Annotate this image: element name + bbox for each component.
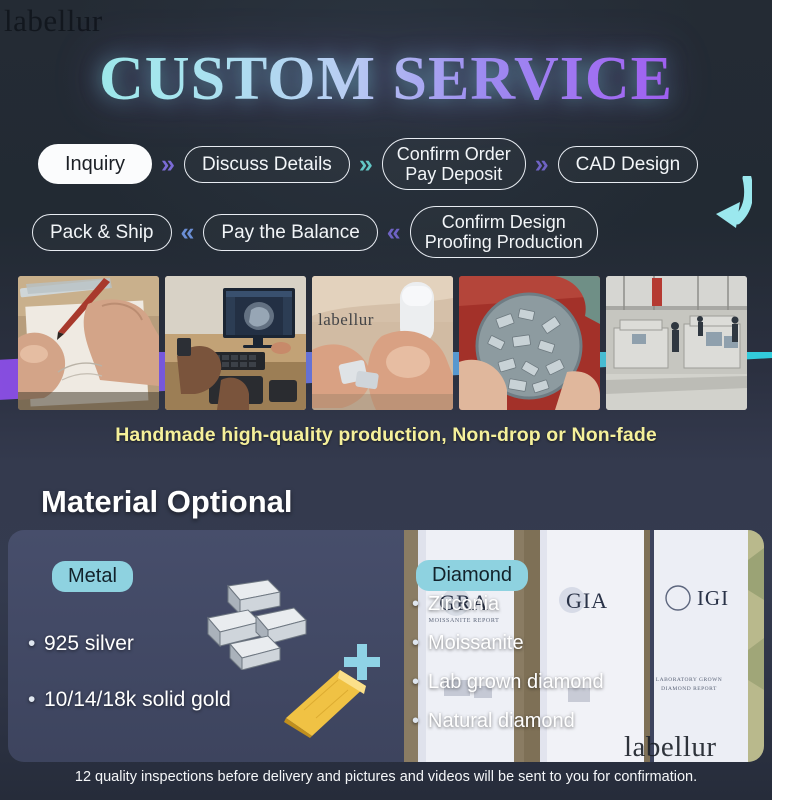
material-section-heading: Material Optional xyxy=(41,484,292,520)
right-white-margin xyxy=(772,0,800,800)
bullet-dot: • xyxy=(412,593,428,616)
watermark-center: labellur xyxy=(318,310,374,330)
flow-arrow-icon-3: » xyxy=(535,152,549,177)
list-item: •Zirconia xyxy=(412,593,604,616)
list-item: •925 silver xyxy=(28,632,231,656)
poster-canvas: labellur CUSTOM SERVICE Inquiry » Discus… xyxy=(0,0,772,800)
metal-option-label: 925 silver xyxy=(44,632,134,655)
flow-back-arrow-icon-2: « xyxy=(387,220,401,245)
bullet-dot: • xyxy=(412,671,428,694)
diamond-options-list: •Zirconia •Moissanite •Lab grown diamond… xyxy=(412,593,604,749)
badge-diamond: Diamond xyxy=(416,560,528,591)
certificate-card-igi: IGI LABORATORY GROWN DIAMOND REPORT xyxy=(650,530,764,762)
list-item: •Moissanite xyxy=(412,632,604,655)
photo-cad-designer-at-computer xyxy=(165,276,306,410)
flow-step-discuss-details[interactable]: Discuss Details xyxy=(184,146,350,183)
flow-back-arrow-icon-1: « xyxy=(181,220,195,245)
diamond-option-label: Lab grown diamond xyxy=(428,671,604,693)
certificate-sub-igi: LABORATORY GROWN DIAMOND REPORT xyxy=(650,676,746,695)
curved-down-arrow-icon xyxy=(706,176,752,238)
diamond-option-label: Zirconia xyxy=(428,593,499,615)
process-flow-row-1: Inquiry » Discuss Details » Confirm Orde… xyxy=(38,138,698,190)
bottom-note: 12 quality inspections before delivery a… xyxy=(0,769,772,785)
page-title: CUSTOM SERVICE xyxy=(0,44,772,115)
watermark-bottom-right: labellur xyxy=(624,731,717,764)
flow-arrow-icon-2: » xyxy=(359,152,373,177)
flow-step-inquiry[interactable]: Inquiry xyxy=(38,144,152,184)
metal-options-list: •925 silver •10/14/18k solid gold xyxy=(28,632,231,744)
certificate-label-igi: IGI xyxy=(664,586,762,611)
flow-step-pay-balance[interactable]: Pay the Balance xyxy=(203,214,377,251)
flow-step-pack-ship[interactable]: Pack & Ship xyxy=(32,214,172,251)
flow-step-confirm-order[interactable]: Confirm Order Pay Deposit xyxy=(382,138,526,190)
bullet-dot: • xyxy=(28,688,44,712)
photo-wax-mold-casting xyxy=(312,276,453,410)
photo-strip xyxy=(18,276,747,410)
material-card: GRA MOISSANITE REPORT GIA xyxy=(8,530,764,762)
watermark-top-left: labellur xyxy=(4,3,103,39)
quality-caption: Handmade high-quality production, Non-dr… xyxy=(0,424,772,447)
photo-factory-production-line xyxy=(606,276,747,410)
bullet-dot: • xyxy=(412,632,428,655)
diamond-option-label: Natural diamond xyxy=(428,710,575,732)
flow-arrow-icon-1: » xyxy=(161,152,175,177)
diamond-option-label: Moissanite xyxy=(428,632,524,654)
bullet-dot: • xyxy=(412,710,428,733)
plus-icon xyxy=(342,642,382,682)
list-item: •Lab grown diamond xyxy=(412,671,604,694)
photo-hand-sketching-design xyxy=(18,276,159,410)
flow-step-confirm-design[interactable]: Confirm Design Proofing Production xyxy=(410,206,598,258)
list-item: •Natural diamond xyxy=(412,710,604,733)
process-flow-row-2: Pack & Ship « Pay the Balance « Confirm … xyxy=(32,206,598,258)
flow-step-cad-design[interactable]: CAD Design xyxy=(558,146,699,183)
bullet-dot: • xyxy=(28,632,44,656)
list-item: •10/14/18k solid gold xyxy=(28,688,231,712)
metal-option-label: 10/14/18k solid gold xyxy=(44,688,231,711)
badge-metal: Metal xyxy=(52,561,133,592)
photo-stone-setting-tray xyxy=(459,276,600,410)
